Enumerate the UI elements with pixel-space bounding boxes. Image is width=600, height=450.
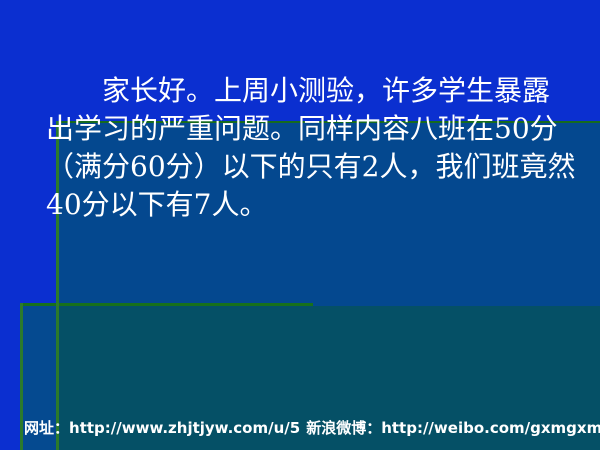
footer-website-url[interactable]: http://www.zhjtjyw.com/u/5	[69, 419, 300, 437]
horizontal-green-divider	[21, 303, 313, 306]
slide-body-text: 家长好。上周小测验，许多学生暴露出学习的严重问题。同样内容八班在50分（满分60…	[46, 72, 576, 224]
column-left-green-rule	[20, 303, 23, 450]
footer-weibo-url[interactable]: http://weibo.com/gxmgxm	[381, 419, 600, 437]
slide-footer: 网址：http://www.zhjtjyw.com/u/5新浪微博：http:/…	[24, 418, 594, 438]
slide-canvas: 家长好。上周小测验，许多学生暴露出学习的严重问题。同样内容八班在50分（满分60…	[0, 0, 600, 450]
footer-weibo-label: 新浪微博：	[306, 419, 381, 437]
footer-website-label: 网址：	[24, 419, 69, 437]
